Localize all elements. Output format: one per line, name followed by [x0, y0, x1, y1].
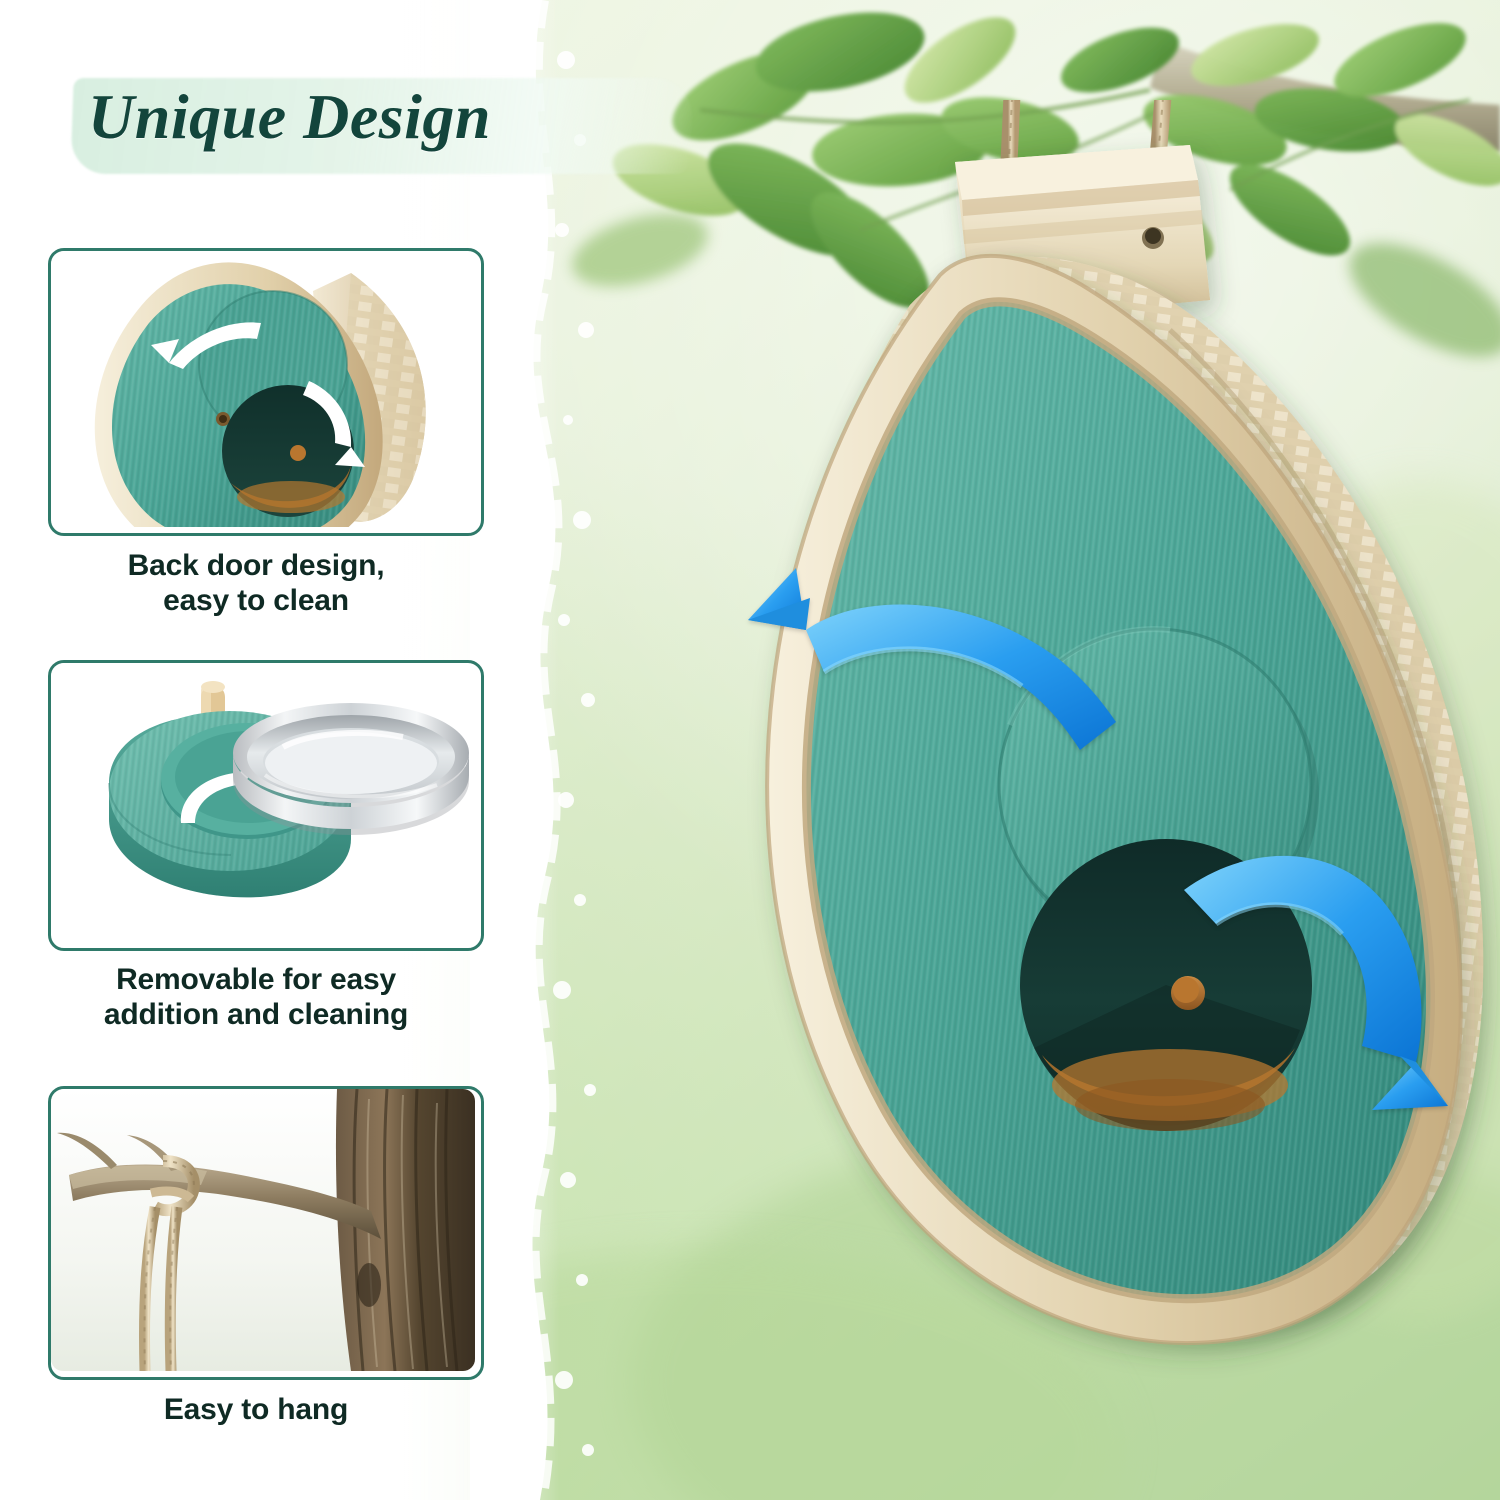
caption-line-1: Back door design, — [0, 548, 512, 583]
caption-line-2: addition and cleaning — [0, 997, 512, 1032]
product-image — [610, 100, 1500, 1500]
feature-card-removable-tray — [48, 660, 484, 951]
title-text: Unique Design — [88, 80, 491, 154]
caption-line-1: Easy to hang — [0, 1392, 512, 1427]
feature-card-back-door — [48, 248, 484, 536]
feature-caption-easy-hang: Easy to hang — [0, 1392, 512, 1427]
feature-image-easy-hang — [51, 1089, 475, 1371]
caption-line-2: easy to clean — [0, 583, 512, 618]
feature-card-easy-hang — [48, 1086, 484, 1380]
product-infographic: Unique Design — [0, 0, 1500, 1500]
feature-caption-back-door: Back door design, easy to clean — [0, 548, 512, 619]
page-title: Unique Design — [72, 72, 712, 182]
stainless-dish — [233, 703, 469, 835]
feature-image-back-door — [51, 251, 475, 527]
feature-image-removable-tray — [51, 663, 475, 942]
feature-caption-removable-tray: Removable for easy addition and cleaning — [0, 962, 512, 1033]
caption-line-1: Removable for easy — [0, 962, 512, 997]
